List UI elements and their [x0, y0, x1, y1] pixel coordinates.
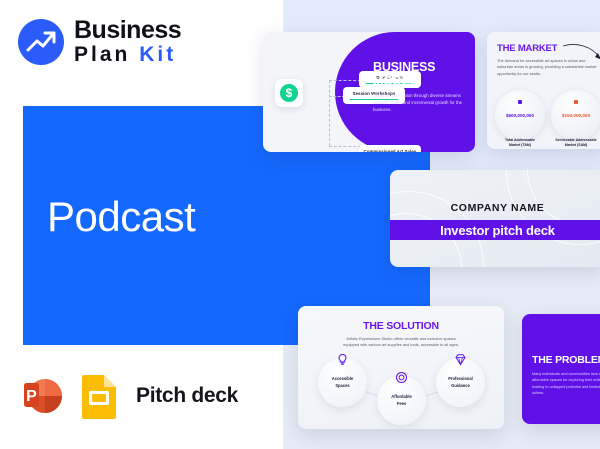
slide-card-investor-pitch[interactable]: COMPANY NAME Investor pitch deck — [390, 170, 600, 267]
solution-node-3-label: ProfessionalGuidance — [448, 376, 473, 388]
problem-heading: THE PROBLEM — [532, 354, 600, 366]
dollar-icon: $ — [275, 79, 303, 107]
market-metric-1: $500,000,000 — [495, 90, 545, 140]
market-metric-2: $150,000,000 — [551, 90, 600, 140]
brand-logo-line1: Business — [74, 18, 181, 43]
problem-body: Many individuals and communities lack ac… — [532, 371, 600, 397]
slide-card-solution[interactable]: THE SOLUTION Artistic Expressions Studio… — [298, 306, 504, 429]
page-title: Podcast — [47, 193, 195, 241]
solution-heading: THE SOLUTION — [298, 320, 504, 332]
brand-logo-plan: Plan — [74, 43, 139, 66]
investor-company-name: COMPANY NAME — [390, 202, 600, 214]
market-metric-1-value: $500,000,000 — [506, 113, 534, 118]
market-heading: THE MARKET — [497, 43, 557, 54]
solution-node-1-label: AccessibleSpaces — [332, 376, 353, 388]
investor-subtitle: Investor pitch deck — [440, 223, 555, 238]
market-metric-2-caption: Serviceable Addressable Market (SAM) — [549, 138, 600, 148]
diamond-icon — [454, 353, 467, 366]
business-model-heading-line2: MODEL — [373, 74, 417, 88]
brand-logo-line2: Plan Kit — [74, 44, 181, 65]
business-model-item-3[interactable]: Commissioned Art Sales — [359, 145, 421, 152]
business-model-heading-line1: BUSINESS — [373, 60, 435, 74]
connector-top — [329, 80, 361, 81]
connector-bottom — [329, 146, 361, 147]
format-label: Pitch deck — [136, 384, 238, 408]
format-badges: P Pitch deck — [18, 372, 238, 420]
target-icon — [395, 371, 408, 384]
solution-node-2-label: AffordableFees — [391, 394, 411, 406]
business-model-body: Revenue generation through diverse strea… — [373, 93, 469, 113]
powerpoint-icon: P — [18, 372, 66, 420]
solution-body: Artistic Expressions Studio offers versa… — [340, 336, 462, 349]
lightbulb-icon — [336, 353, 349, 366]
business-model-heading: BUSINESS MODEL — [373, 60, 469, 88]
brand-logo: Business Plan Kit — [18, 18, 181, 65]
brand-logo-text: Business Plan Kit — [74, 18, 181, 65]
slide-card-problem[interactable]: THE PROBLEM Many individuals and communi… — [522, 314, 600, 424]
market-metric-1-caption-line2: Market (TAM) — [509, 143, 531, 147]
market-metric-1-caption: Total Addressable Market (TAM) — [493, 138, 547, 148]
slide-card-market[interactable]: THE MARKET The demand for accessible art… — [487, 32, 600, 149]
investor-subtitle-band: Investor pitch deck — [390, 220, 600, 240]
google-slides-icon — [78, 372, 124, 420]
market-metric-2-caption-line2: Market (SAM) — [565, 143, 587, 147]
brand-logo-kit: Kit — [139, 43, 176, 66]
market-metric-1-caption-line1: Total Addressable — [505, 138, 535, 142]
market-metric-2-value: $150,000,000 — [562, 113, 590, 118]
connector-vertical — [329, 80, 330, 146]
svg-text:P: P — [26, 388, 37, 405]
market-body: The demand for accessible art spaces in … — [497, 58, 599, 77]
business-model-text-block: BUSINESS MODEL Revenue generation throug… — [373, 60, 469, 113]
market-metric-2-caption-line1: Serviceable Addressable — [555, 138, 596, 142]
poster-canvas: Business Plan Kit Podcast P — [0, 0, 600, 449]
slide-card-business-model[interactable]: $ Drop-in Fees Session Workshops Commiss… — [263, 32, 475, 152]
business-model-item-3-label: Commissioned Art Sales — [364, 149, 417, 152]
growth-arrow-icon — [18, 19, 64, 65]
